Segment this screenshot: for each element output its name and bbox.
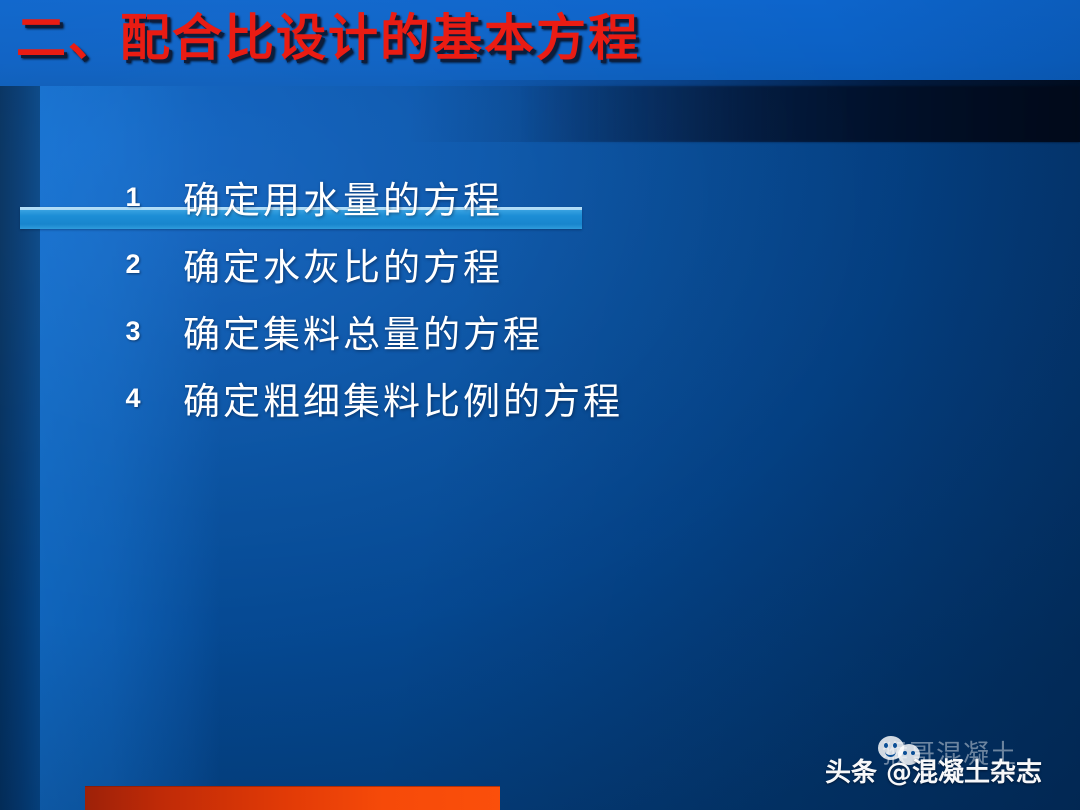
watermark: 猴哥混凝土 头条 @混凝土杂志 bbox=[820, 730, 1080, 796]
list-item[interactable]: 4 确定粗细集料比例的方程 bbox=[0, 379, 1080, 446]
list-item-label: 确定用水量的方程 bbox=[183, 178, 503, 224]
list-item-label: 确定粗细集料比例的方程 bbox=[183, 379, 623, 425]
list-item-number: 2 bbox=[118, 249, 148, 280]
slide-canvas: 二、配合比设计的基本方程 1 确定用水量的方程 2 确定水灰比的方程 3 确定集… bbox=[0, 0, 1080, 810]
list-item-number: 1 bbox=[118, 182, 148, 213]
equation-list: 1 确定用水量的方程 2 确定水灰比的方程 3 确定集料总量的方程 4 确定粗细… bbox=[0, 178, 1080, 446]
slide-title: 二、配合比设计的基本方程 bbox=[16, 6, 640, 70]
list-item[interactable]: 2 确定水灰比的方程 bbox=[0, 245, 1080, 312]
bottom-accent-bar bbox=[85, 786, 500, 810]
list-item-label: 确定集料总量的方程 bbox=[183, 312, 543, 358]
watermark-label: 头条 @混凝土杂志 bbox=[825, 752, 1042, 789]
list-item[interactable]: 3 确定集料总量的方程 bbox=[0, 312, 1080, 379]
list-item-number: 3 bbox=[118, 316, 148, 347]
list-item-label: 确定水灰比的方程 bbox=[183, 245, 503, 291]
list-item-number: 4 bbox=[118, 383, 148, 414]
list-item[interactable]: 1 确定用水量的方程 bbox=[0, 178, 1080, 245]
